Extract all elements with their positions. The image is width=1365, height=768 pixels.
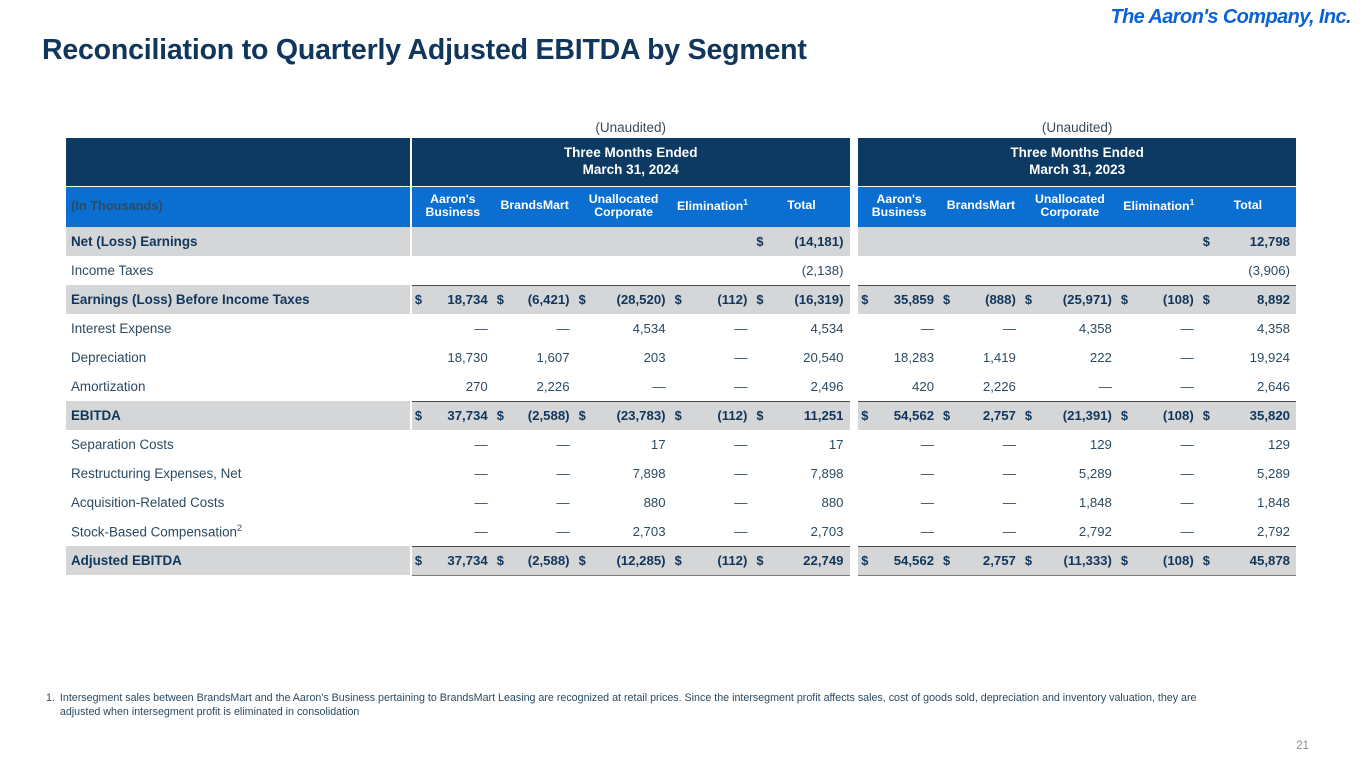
cell-2024-currency-1	[494, 517, 516, 546]
cell-2024-value-1: (6,421)	[516, 285, 576, 314]
cell-2024-value-2: 2,703	[597, 517, 671, 546]
cell-2023-currency-0: $	[858, 285, 880, 314]
cell-2024-currency-1	[494, 227, 516, 256]
cell-2024-currency-4	[753, 459, 775, 488]
cell-2023-value-4: 129	[1222, 430, 1296, 459]
cell-2024-value-0: 18,730	[434, 343, 494, 372]
cell-2024-value-1	[516, 227, 576, 256]
cell-2024-value-2: 4,534	[597, 314, 671, 343]
cell-2024-currency-4	[753, 256, 775, 285]
cell-2024-currency-4	[753, 517, 775, 546]
row-label: Stock-Based Compensation2	[66, 517, 410, 546]
cell-2024-value-0: —	[434, 314, 494, 343]
cell-2024-value-2: 7,898	[597, 459, 671, 488]
cell-2023-currency-0: $	[858, 546, 880, 575]
column-header-2024-total: Total	[753, 186, 849, 227]
row-label: Depreciation	[66, 343, 410, 372]
table-row: Interest Expense——4,534—4,534——4,358—4,3…	[66, 314, 1296, 343]
cell-2024-currency-3	[672, 314, 694, 343]
cell-2023-value-3: —	[1140, 343, 1200, 372]
cell-2023-value-2: (21,391)	[1044, 401, 1118, 430]
cell-2024-currency-1	[494, 488, 516, 517]
hdr-line2: Business	[425, 205, 480, 219]
cell-2023-currency-3	[1118, 459, 1140, 488]
row-label: Restructuring Expenses, Net	[66, 459, 410, 488]
period-group-spacer	[850, 546, 859, 575]
cell-2024-currency-4	[753, 314, 775, 343]
cell-2023-value-2: 1,848	[1044, 488, 1118, 517]
cell-2023-value-1: —	[962, 517, 1022, 546]
cell-2024-value-0: —	[434, 459, 494, 488]
footnote-number: 1.	[46, 691, 55, 720]
hdr-line1: BrandsMart	[500, 198, 568, 212]
cell-2023-currency-1: $	[940, 285, 962, 314]
cell-2023-value-3: (108)	[1140, 401, 1200, 430]
period-group-spacer	[850, 285, 859, 314]
cell-2024-value-4: 7,898	[775, 459, 849, 488]
cell-2024-value-1: (2,588)	[516, 546, 576, 575]
cell-2023-value-1	[962, 227, 1022, 256]
cell-2023-value-2: (25,971)	[1044, 285, 1118, 314]
hdr-line1: Unallocated	[589, 192, 659, 206]
cell-2024-currency-4	[753, 372, 775, 401]
table-row: Adjusted EBITDA$37,734$(2,588)$(12,285)$…	[66, 546, 1296, 575]
cell-2024-value-4: 17	[775, 430, 849, 459]
cell-2024-value-1: (2,588)	[516, 401, 576, 430]
cell-2023-value-0: 18,283	[880, 343, 940, 372]
cell-2024-value-4: (2,138)	[775, 256, 849, 285]
cell-2023-currency-3	[1118, 488, 1140, 517]
column-header-2024-brandsmart: BrandsMart	[494, 186, 576, 227]
cell-2024-value-0: 270	[434, 372, 494, 401]
cell-2023-value-4: 1,848	[1222, 488, 1296, 517]
cell-2023-currency-3	[1118, 372, 1140, 401]
cell-2023-currency-1	[940, 314, 962, 343]
cell-2023-currency-0	[858, 517, 880, 546]
cell-2024-currency-1: $	[494, 285, 516, 314]
cell-2023-currency-3: $	[1118, 401, 1140, 430]
cell-2024-currency-1: $	[494, 401, 516, 430]
column-header-2023-total: Total	[1200, 186, 1296, 227]
cell-2023-currency-4: $	[1200, 227, 1222, 256]
cell-2023-value-4: 19,924	[1222, 343, 1296, 372]
cell-2024-value-0: 37,734	[434, 546, 494, 575]
cell-2023-currency-4: $	[1200, 546, 1222, 575]
cell-2024-currency-4	[753, 488, 775, 517]
cell-2024-value-3: —	[693, 430, 753, 459]
cell-2023-value-2: 129	[1044, 430, 1118, 459]
period-header-2023-line2: March 31, 2023	[858, 161, 1296, 178]
cell-2023-currency-4: $	[1200, 285, 1222, 314]
cell-2023-value-2: —	[1044, 372, 1118, 401]
cell-2024-currency-0	[412, 372, 434, 401]
cell-2024-value-1: 2,226	[516, 372, 576, 401]
period-group-spacer	[850, 343, 859, 372]
page-title: Reconciliation to Quarterly Adjusted EBI…	[42, 34, 807, 67]
cell-2023-currency-2	[1022, 314, 1044, 343]
cell-2024-currency-2	[576, 343, 598, 372]
unaudited-caption-row: (Unaudited) (Unaudited)	[66, 120, 1296, 138]
column-header-2024-aarons-business: Aaron's Business	[412, 186, 494, 227]
cell-2023-value-0: —	[880, 488, 940, 517]
cell-2024-value-3: (112)	[693, 285, 753, 314]
cell-2023-currency-1	[940, 256, 962, 285]
column-header-2024-elimination: Elimination1	[672, 186, 754, 227]
cell-2023-currency-3	[1118, 517, 1140, 546]
cell-2024-value-1: —	[516, 488, 576, 517]
cell-2023-value-4: 8,892	[1222, 285, 1296, 314]
cell-2023-value-2	[1044, 256, 1118, 285]
period-header-2024-line1: Three Months Ended	[564, 145, 698, 160]
cell-2023-currency-1	[940, 430, 962, 459]
period-header-2023: Three Months Ended March 31, 2023	[858, 138, 1296, 186]
hdr-line1: Aaron's	[430, 192, 475, 206]
footnote-marker: 1	[1190, 197, 1195, 207]
cell-2023-value-1: (888)	[962, 285, 1022, 314]
cell-2023-value-2	[1044, 227, 1118, 256]
cell-2024-currency-1	[494, 430, 516, 459]
hdr-line1: Total	[787, 198, 815, 212]
hdr-line1: Unallocated	[1035, 192, 1105, 206]
cell-2024-value-3: (112)	[693, 546, 753, 575]
row-label: Adjusted EBITDA	[66, 546, 410, 575]
cell-2023-currency-4	[1200, 372, 1222, 401]
cell-2024-currency-0	[412, 430, 434, 459]
table-row: Net (Loss) Earnings$(14,181)$12,798	[66, 227, 1296, 256]
cell-2023-currency-1	[940, 343, 962, 372]
period-header-row: Three Months Ended March 31, 2024 Three …	[66, 138, 1296, 186]
cell-2023-currency-3: $	[1118, 285, 1140, 314]
cell-2023-value-4: 2,646	[1222, 372, 1296, 401]
cell-2023-value-3: —	[1140, 314, 1200, 343]
cell-2024-currency-1	[494, 343, 516, 372]
cell-2024-currency-3	[672, 488, 694, 517]
cell-2023-value-1: 2,757	[962, 546, 1022, 575]
table-body: Net (Loss) Earnings$(14,181)$12,798Incom…	[66, 227, 1296, 575]
cell-2024-currency-0	[412, 227, 434, 256]
cell-2023-value-0: —	[880, 459, 940, 488]
period-group-spacer	[850, 401, 859, 430]
cell-2024-currency-2	[576, 372, 598, 401]
unaudited-label-2023: (Unaudited)	[858, 120, 1296, 138]
cell-2023-currency-3	[1118, 314, 1140, 343]
cell-2023-value-1: —	[962, 459, 1022, 488]
cell-2024-currency-0	[412, 488, 434, 517]
cell-2023-value-1: —	[962, 430, 1022, 459]
cell-2023-currency-4	[1200, 488, 1222, 517]
cell-2023-value-4: 12,798	[1222, 227, 1296, 256]
cell-2024-currency-3	[672, 256, 694, 285]
cell-2023-currency-3	[1118, 343, 1140, 372]
cell-2023-currency-1: $	[940, 401, 962, 430]
row-label-text: Stock-Based Compensation	[71, 525, 237, 540]
cell-2023-value-4: 35,820	[1222, 401, 1296, 430]
cell-2024-currency-3	[672, 227, 694, 256]
cell-2023-value-0: —	[880, 430, 940, 459]
cell-2024-currency-0	[412, 517, 434, 546]
cell-2024-value-3: —	[693, 314, 753, 343]
cell-2024-value-4: 20,540	[775, 343, 849, 372]
period-header-2024: Three Months Ended March 31, 2024	[412, 138, 850, 186]
cell-2024-value-4: 2,703	[775, 517, 849, 546]
cell-2023-value-0: 54,562	[880, 546, 940, 575]
period-header-2024-line2: March 31, 2024	[412, 161, 850, 178]
cell-2023-currency-2	[1022, 459, 1044, 488]
cell-2023-value-3: —	[1140, 488, 1200, 517]
cell-2023-currency-2	[1022, 517, 1044, 546]
cell-2024-currency-2: $	[576, 285, 598, 314]
cell-2023-value-1: 1,419	[962, 343, 1022, 372]
cell-2023-value-3: —	[1140, 517, 1200, 546]
cell-2023-value-0	[880, 227, 940, 256]
cell-2024-value-0: 37,734	[434, 401, 494, 430]
cell-2024-value-2: (23,783)	[597, 401, 671, 430]
cell-2024-currency-3	[672, 343, 694, 372]
cell-2023-currency-2: $	[1022, 546, 1044, 575]
cell-2023-currency-3: $	[1118, 546, 1140, 575]
hdr-line2: Corporate	[594, 205, 653, 219]
cell-2024-currency-2	[576, 256, 598, 285]
cell-2023-currency-2: $	[1022, 401, 1044, 430]
cell-2024-value-0: —	[434, 430, 494, 459]
table-row: Stock-Based Compensation2——2,703—2,703——…	[66, 517, 1296, 546]
cell-2024-currency-4	[753, 430, 775, 459]
cell-2023-value-4: 45,878	[1222, 546, 1296, 575]
cell-2024-currency-3: $	[672, 546, 694, 575]
period-group-spacer	[850, 430, 859, 459]
cell-2023-currency-1	[940, 227, 962, 256]
cell-2024-value-2: 17	[597, 430, 671, 459]
footnote-item: 1. Intersegment sales between BrandsMart…	[46, 691, 1226, 720]
cell-2023-currency-4	[1200, 343, 1222, 372]
column-header-2023-brandsmart: BrandsMart	[940, 186, 1022, 227]
cell-2024-currency-2: $	[576, 401, 598, 430]
table-row: Amortization2702,226——2,4964202,226——2,6…	[66, 372, 1296, 401]
cell-2024-currency-2	[576, 459, 598, 488]
table-head: (Unaudited) (Unaudited) Three Months End…	[66, 120, 1296, 227]
period-group-spacer	[850, 256, 859, 285]
cell-2023-currency-0	[858, 256, 880, 285]
cell-2024-value-1	[516, 256, 576, 285]
cell-2023-currency-4	[1200, 256, 1222, 285]
period-group-spacer	[850, 488, 859, 517]
cell-2024-value-0: 18,734	[434, 285, 494, 314]
cell-2024-value-4: 22,749	[775, 546, 849, 575]
row-label: Separation Costs	[66, 430, 410, 459]
cell-2023-value-1: 2,757	[962, 401, 1022, 430]
cell-2023-currency-1	[940, 372, 962, 401]
cell-2023-value-2: 2,792	[1044, 517, 1118, 546]
table-row: Restructuring Expenses, Net——7,898—7,898…	[66, 459, 1296, 488]
page-number: 21	[1296, 740, 1309, 752]
hdr-line1: Total	[1234, 198, 1262, 212]
row-label: Amortization	[66, 372, 410, 401]
cell-2024-value-3	[693, 256, 753, 285]
cell-2024-value-1: 1,607	[516, 343, 576, 372]
cell-2024-currency-3	[672, 517, 694, 546]
cell-2023-currency-2	[1022, 343, 1044, 372]
column-header-2024-unallocated-corporate: Unallocated Corporate	[576, 186, 672, 227]
cell-2023-currency-0	[858, 343, 880, 372]
period-group-spacer	[850, 517, 859, 546]
cell-2024-currency-0	[412, 256, 434, 285]
period-header-blank	[66, 138, 410, 186]
cell-2023-currency-4: $	[1200, 401, 1222, 430]
cell-2024-currency-0: $	[412, 285, 434, 314]
cell-2023-value-3: —	[1140, 372, 1200, 401]
cell-2024-value-3	[693, 227, 753, 256]
cell-2023-currency-1	[940, 459, 962, 488]
table-row: Separation Costs——17—17——129—129	[66, 430, 1296, 459]
row-label: Interest Expense	[66, 314, 410, 343]
cell-2023-currency-4	[1200, 314, 1222, 343]
cell-2023-currency-0	[858, 459, 880, 488]
cell-2023-value-0: 35,859	[880, 285, 940, 314]
cell-2024-currency-2	[576, 430, 598, 459]
cell-2023-value-2: 222	[1044, 343, 1118, 372]
period-group-spacer	[850, 459, 859, 488]
cell-2024-currency-4: $	[753, 227, 775, 256]
unaudited-label-2024: (Unaudited)	[412, 120, 850, 138]
cell-2023-currency-0	[858, 372, 880, 401]
cell-2023-currency-1: $	[940, 546, 962, 575]
cell-2024-currency-4: $	[753, 401, 775, 430]
cell-2024-currency-3: $	[672, 401, 694, 430]
footnote-marker: 1	[743, 197, 748, 207]
cell-2024-currency-2	[576, 314, 598, 343]
cell-2024-currency-4: $	[753, 285, 775, 314]
cell-2024-value-2: (28,520)	[597, 285, 671, 314]
cell-2024-value-3: —	[693, 488, 753, 517]
cell-2024-value-4: (14,181)	[775, 227, 849, 256]
period-group-spacer	[850, 227, 859, 256]
cell-2023-value-0: —	[880, 314, 940, 343]
company-logo: The Aaron's Company, Inc.	[1110, 6, 1351, 29]
cell-2023-value-3: —	[1140, 459, 1200, 488]
cell-2024-value-2: 880	[597, 488, 671, 517]
cell-2023-value-2: 4,358	[1044, 314, 1118, 343]
cell-2023-currency-0: $	[858, 401, 880, 430]
cell-2024-value-3: —	[693, 372, 753, 401]
cell-2023-value-1: 2,226	[962, 372, 1022, 401]
cell-2024-currency-0	[412, 314, 434, 343]
table-row: Income Taxes(2,138)(3,906)	[66, 256, 1296, 285]
hdr-line1: BrandsMart	[947, 198, 1015, 212]
cell-2024-value-0	[434, 227, 494, 256]
period-group-spacer	[850, 314, 859, 343]
row-label: Acquisition-Related Costs	[66, 488, 410, 517]
cell-2024-value-2: 203	[597, 343, 671, 372]
cell-2024-value-0: —	[434, 488, 494, 517]
cell-2024-currency-4	[753, 343, 775, 372]
cell-2023-currency-1	[940, 488, 962, 517]
cell-2023-currency-3	[1118, 430, 1140, 459]
row-label: Income Taxes	[66, 256, 410, 285]
cell-2024-currency-0	[412, 343, 434, 372]
row-label: Earnings (Loss) Before Income Taxes	[66, 285, 410, 314]
hdr-line1: Elimination	[677, 199, 743, 213]
cell-2024-currency-1	[494, 372, 516, 401]
cell-2024-value-1: —	[516, 459, 576, 488]
cell-2024-value-1: —	[516, 517, 576, 546]
financial-table-container: (Unaudited) (Unaudited) Three Months End…	[66, 120, 1296, 576]
table-row: Depreciation18,7301,607203—20,54018,2831…	[66, 343, 1296, 372]
hdr-line2: Corporate	[1041, 205, 1100, 219]
cell-2024-value-4: 11,251	[775, 401, 849, 430]
cell-2023-currency-0	[858, 227, 880, 256]
row-label: EBITDA	[66, 401, 410, 430]
cell-2023-value-2: (11,333)	[1044, 546, 1118, 575]
hdr-line1: Elimination	[1123, 199, 1189, 213]
cell-2023-value-3: (108)	[1140, 546, 1200, 575]
cell-2023-currency-2	[1022, 227, 1044, 256]
cell-2024-value-0	[434, 256, 494, 285]
cell-2024-value-4: 2,496	[775, 372, 849, 401]
cell-2024-value-2	[597, 227, 671, 256]
footnote-marker: 2	[237, 523, 242, 533]
cell-2023-value-3	[1140, 227, 1200, 256]
cell-2023-value-1: —	[962, 488, 1022, 517]
hdr-line1: Aaron's	[876, 192, 921, 206]
cell-2024-value-4: (16,319)	[775, 285, 849, 314]
cell-2024-currency-0	[412, 459, 434, 488]
column-header-in-thousands: (In Thousands)	[66, 186, 410, 227]
cell-2023-currency-0	[858, 430, 880, 459]
cell-2024-currency-2: $	[576, 546, 598, 575]
column-header-2023-aarons-business: Aaron's Business	[858, 186, 940, 227]
cell-2024-currency-3	[672, 372, 694, 401]
column-header-row: (In Thousands) Aaron's Business BrandsMa…	[66, 186, 1296, 227]
cell-2024-value-2: —	[597, 372, 671, 401]
period-header-2023-line1: Three Months Ended	[1010, 145, 1144, 160]
cell-2024-currency-3	[672, 459, 694, 488]
cell-2023-value-4: 2,792	[1222, 517, 1296, 546]
cell-2023-currency-3	[1118, 256, 1140, 285]
cell-2023-value-0: 54,562	[880, 401, 940, 430]
cell-2024-value-3: —	[693, 459, 753, 488]
cell-2023-currency-4	[1200, 517, 1222, 546]
cell-2023-currency-2	[1022, 430, 1044, 459]
table-row: Earnings (Loss) Before Income Taxes$18,7…	[66, 285, 1296, 314]
cell-2024-value-3: —	[693, 343, 753, 372]
cell-2023-value-4: 4,358	[1222, 314, 1296, 343]
cell-2024-currency-1	[494, 459, 516, 488]
cell-2023-currency-2	[1022, 488, 1044, 517]
cell-2024-currency-1: $	[494, 546, 516, 575]
cell-2024-value-2	[597, 256, 671, 285]
cell-2024-value-2: (12,285)	[597, 546, 671, 575]
cell-2024-currency-2	[576, 227, 598, 256]
cell-2023-value-4: 5,289	[1222, 459, 1296, 488]
table-row: EBITDA$37,734$(2,588)$(23,783)$(112)$11,…	[66, 401, 1296, 430]
column-header-2023-unallocated-corporate: Unallocated Corporate	[1022, 186, 1118, 227]
cell-2023-value-0: 420	[880, 372, 940, 401]
cell-2023-currency-2	[1022, 256, 1044, 285]
cell-2024-currency-3: $	[672, 285, 694, 314]
cell-2023-currency-2	[1022, 372, 1044, 401]
cell-2024-value-3: —	[693, 517, 753, 546]
cell-2023-value-4: (3,906)	[1222, 256, 1296, 285]
cell-2023-value-0	[880, 256, 940, 285]
cell-2023-value-3: —	[1140, 430, 1200, 459]
cell-2023-currency-3	[1118, 227, 1140, 256]
cell-2024-currency-3	[672, 430, 694, 459]
cell-2023-value-1	[962, 256, 1022, 285]
cell-2024-currency-0: $	[412, 401, 434, 430]
cell-2023-currency-0	[858, 314, 880, 343]
cell-2024-currency-0: $	[412, 546, 434, 575]
cell-2023-value-0: —	[880, 517, 940, 546]
